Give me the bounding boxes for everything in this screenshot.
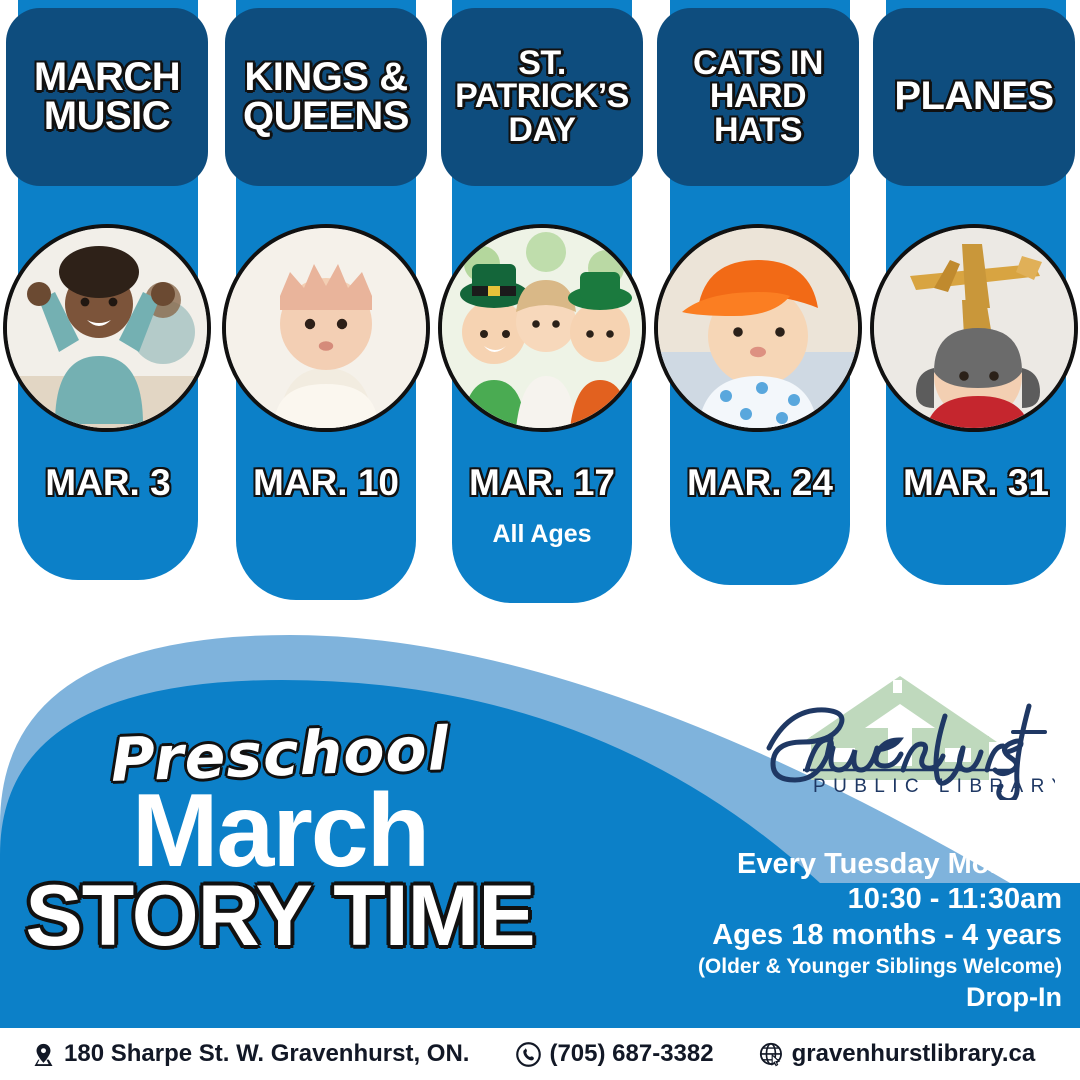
map-pin-icon: [30, 1041, 57, 1068]
session-date: MAR. 31: [868, 462, 1080, 504]
globe-icon: [758, 1041, 785, 1068]
bottom-banner: Preschool March STORY TIME: [0, 625, 1080, 1080]
session-date-block: MAR. 10: [218, 462, 434, 504]
schedule-ages: Ages 18 months - 4 years: [442, 918, 1062, 953]
footer-website-text: gravenhurstlibrary.ca: [792, 1040, 1036, 1068]
schedule-time: 10:30 - 11:30am: [442, 882, 1062, 917]
session-topic-plaque: MARCHMUSIC: [6, 8, 208, 186]
session-date: MAR. 3: [0, 462, 216, 504]
session-date-block: MAR. 3: [0, 462, 216, 504]
session-topic-label: KINGS &QUEENS: [243, 58, 409, 136]
footer-phone: (705) 687-3382: [515, 1040, 713, 1068]
session-date: MAR. 10: [218, 462, 434, 504]
session-date-block: MAR. 17 All Ages: [434, 462, 650, 549]
session-photo: [654, 224, 862, 432]
session-photo: [438, 224, 646, 432]
schedule-day: Every Tuesday Morning: [442, 847, 1062, 882]
footer-address: 180 Sharpe St. W. Gravenhurst, ON.: [30, 1040, 469, 1068]
schedule-siblings-note: (Older & Younger Siblings Welcome): [442, 953, 1062, 980]
session-topic-label: ST.PATRICK’SDAY: [455, 47, 629, 147]
session-card-grid: MARCHMUSIC KINGS &QUEENS ST.PATRICK’SDAY…: [0, 0, 1080, 625]
schedule-dropin: Drop-In: [442, 980, 1062, 1015]
session-topic-plaque: KINGS &QUEENS: [225, 8, 427, 186]
session-date-block: MAR. 31: [868, 462, 1080, 504]
logo-subtitle: PUBLIC LIBRARY: [813, 776, 1055, 797]
session-photo: [3, 224, 211, 432]
session-date: MAR. 24: [652, 462, 868, 504]
session-age-note: All Ages: [434, 520, 650, 549]
session-topic-label: CATS INHARDHATS: [693, 47, 823, 147]
footer-phone-text: (705) 687-3382: [549, 1040, 713, 1068]
session-topic-label: PLANES: [894, 77, 1053, 116]
session-photo: [222, 224, 430, 432]
session-topic-label: MARCHMUSIC: [34, 58, 180, 136]
phone-icon: [515, 1041, 542, 1068]
session-photo: [870, 224, 1078, 432]
footer-contact-bar: 180 Sharpe St. W. Gravenhurst, ON. (705)…: [0, 1028, 1080, 1080]
session-topic-plaque: CATS INHARDHATS: [657, 8, 859, 186]
session-topic-plaque: ST.PATRICK’SDAY: [441, 8, 643, 186]
library-logo: PUBLIC LIBRARY: [745, 670, 1055, 800]
footer-website: gravenhurstlibrary.ca: [758, 1040, 1036, 1068]
schedule-info: Every Tuesday Morning 10:30 - 11:30am Ag…: [442, 847, 1062, 1016]
footer-address-text: 180 Sharpe St. W. Gravenhurst, ON.: [64, 1040, 469, 1068]
session-date: MAR. 17: [434, 462, 650, 504]
session-date-block: MAR. 24: [652, 462, 868, 504]
session-topic-plaque: PLANES: [873, 8, 1075, 186]
